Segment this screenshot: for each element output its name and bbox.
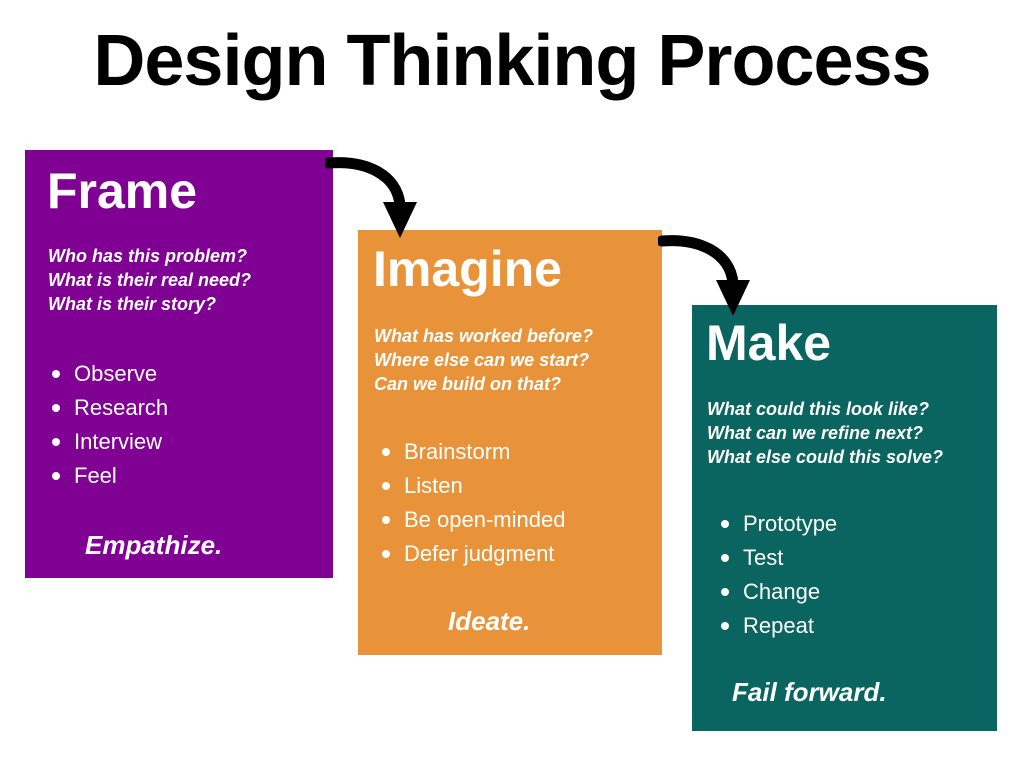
stage-questions-imagine: What has worked before? Where else can w…	[374, 324, 593, 396]
stage-card-imagine[interactable]: Imagine What has worked before? Where el…	[358, 230, 662, 655]
bullet-dot-icon	[52, 370, 60, 378]
stage-question: Who has this problem?	[48, 244, 251, 268]
stage-question: What could this look like?	[707, 397, 943, 421]
stage-question: What can we refine next?	[707, 421, 943, 445]
list-item: Brainstorm	[378, 435, 565, 469]
stage-bullets-make: Prototype Test Change Repeat	[717, 507, 837, 643]
bullet-dot-icon	[52, 472, 60, 480]
list-item-label: Be open-minded	[404, 507, 565, 532]
stage-card-frame[interactable]: Frame Who has this problem? What is thei…	[25, 150, 333, 578]
bullet-dot-icon	[382, 448, 390, 456]
bullet-dot-icon	[721, 554, 729, 562]
list-item: Be open-minded	[378, 503, 565, 537]
list-item-label: Prototype	[743, 511, 837, 536]
list-item: Test	[717, 541, 837, 575]
stage-questions-frame: Who has this problem? What is their real…	[48, 244, 251, 316]
list-item-label: Brainstorm	[404, 439, 510, 464]
stage-title-imagine: Imagine	[373, 242, 562, 296]
list-item-label: Listen	[404, 473, 463, 498]
list-item: Observe	[48, 357, 168, 391]
bullet-dot-icon	[382, 550, 390, 558]
bullet-dot-icon	[721, 622, 729, 630]
stage-question: What has worked before?	[374, 324, 593, 348]
stage-question: What is their story?	[48, 292, 251, 316]
stage-question: Can we build on that?	[374, 372, 593, 396]
stage-bullets-imagine: Brainstorm Listen Be open-minded Defer j…	[378, 435, 565, 571]
list-item: Defer judgment	[378, 537, 565, 571]
process-diagram: Frame Who has this problem? What is thei…	[0, 0, 1024, 768]
list-item: Change	[717, 575, 837, 609]
list-item: Feel	[48, 459, 168, 493]
stage-footer-make: Fail forward.	[732, 677, 887, 707]
stage-questions-make: What could this look like? What can we r…	[707, 397, 943, 469]
list-item-label: Repeat	[743, 613, 814, 638]
stage-question: Where else can we start?	[374, 348, 593, 372]
list-item-label: Change	[743, 579, 820, 604]
list-item: Listen	[378, 469, 565, 503]
list-item: Research	[48, 391, 168, 425]
list-item: Prototype	[717, 507, 837, 541]
bullet-dot-icon	[52, 438, 60, 446]
bullet-dot-icon	[721, 588, 729, 596]
list-item-label: Test	[743, 545, 783, 570]
bullet-dot-icon	[382, 516, 390, 524]
list-item-label: Observe	[74, 361, 157, 386]
list-item-label: Defer judgment	[404, 541, 554, 566]
stage-question: What is their real need?	[48, 268, 251, 292]
stage-bullets-frame: Observe Research Interview Feel	[48, 357, 168, 493]
stage-title-make: Make	[706, 316, 831, 370]
list-item-label: Interview	[74, 429, 162, 454]
stage-footer-imagine: Ideate.	[448, 606, 530, 636]
stage-question: What else could this solve?	[707, 445, 943, 469]
stage-footer-frame: Empathize.	[85, 530, 222, 560]
list-item-label: Research	[74, 395, 168, 420]
bullet-dot-icon	[721, 520, 729, 528]
list-item-label: Feel	[74, 463, 117, 488]
bullet-dot-icon	[52, 404, 60, 412]
stage-title-frame: Frame	[47, 164, 197, 218]
stage-card-make[interactable]: Make What could this look like? What can…	[692, 305, 997, 731]
list-item: Interview	[48, 425, 168, 459]
list-item: Repeat	[717, 609, 837, 643]
bullet-dot-icon	[382, 482, 390, 490]
